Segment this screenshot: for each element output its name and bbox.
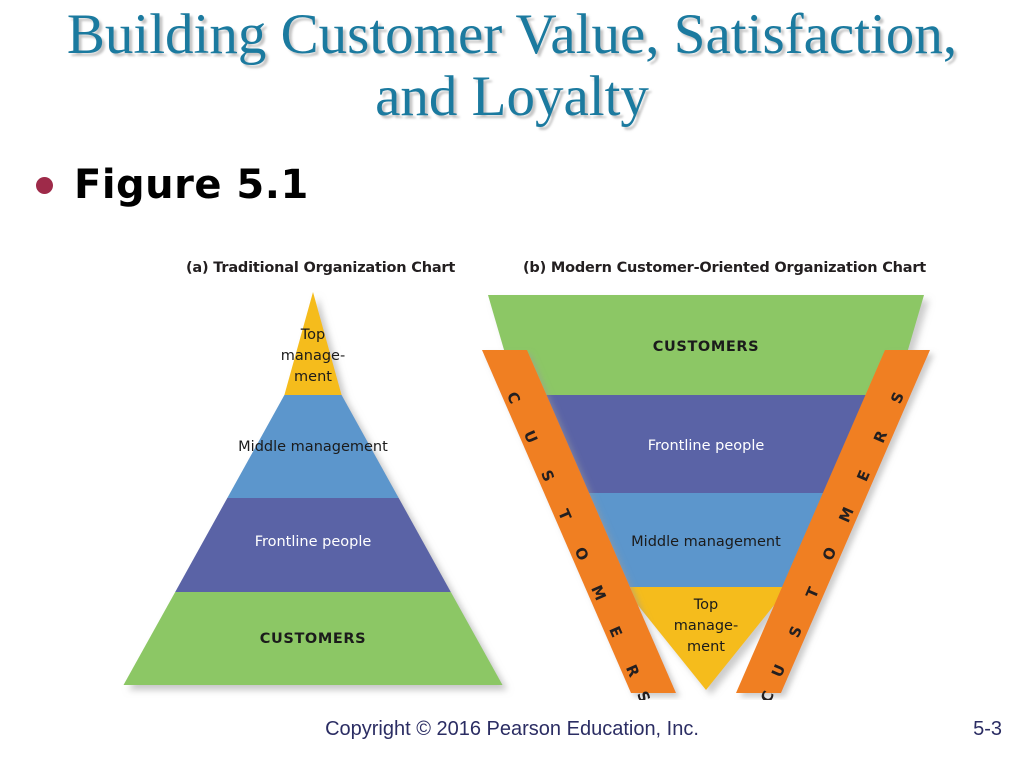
page-title-line-1: Building Customer Value, Satisfaction, [67, 3, 957, 66]
label-customers: CUSTOMERS [260, 631, 366, 647]
label-top-management-modern-line-2: manage- [674, 618, 738, 634]
label-top-management-line-1: Top [300, 327, 325, 343]
traditional-organization-chart: Top manage- ment Middle management Front… [0, 240, 1024, 700]
label-top-management-line-3: ment [294, 369, 332, 385]
figure-5-1: (a) Traditional Organization Chart (b) M… [0, 240, 1024, 700]
bullet-item-label: Figure 5.1 [74, 162, 309, 208]
label-top-management-modern-line-3: ment [687, 639, 725, 655]
label-frontline-people: Frontline people [255, 534, 372, 550]
slide-canvas: Building Customer Value, Satisfaction, a… [0, 0, 1024, 772]
bullet-dot-icon [36, 177, 53, 194]
label-customers-modern: CUSTOMERS [653, 339, 759, 355]
page-title-line-2: and Loyalty [375, 65, 649, 128]
footer-page-number: 5-3 [973, 718, 1002, 741]
label-frontline-people-modern: Frontline people [648, 438, 765, 454]
label-top-management-modern-line-1: Top [693, 597, 718, 613]
label-top-management-line-2: manage- [281, 348, 345, 364]
footer-copyright: Copyright © 2016 Pearson Education, Inc. [0, 718, 1024, 741]
label-middle-management-modern: Middle management [631, 534, 781, 550]
page-title: Building Customer Value, Satisfaction, a… [40, 4, 984, 128]
bullet-list-item: Figure 5.1 [36, 162, 309, 208]
label-middle-management: Middle management [238, 439, 388, 455]
